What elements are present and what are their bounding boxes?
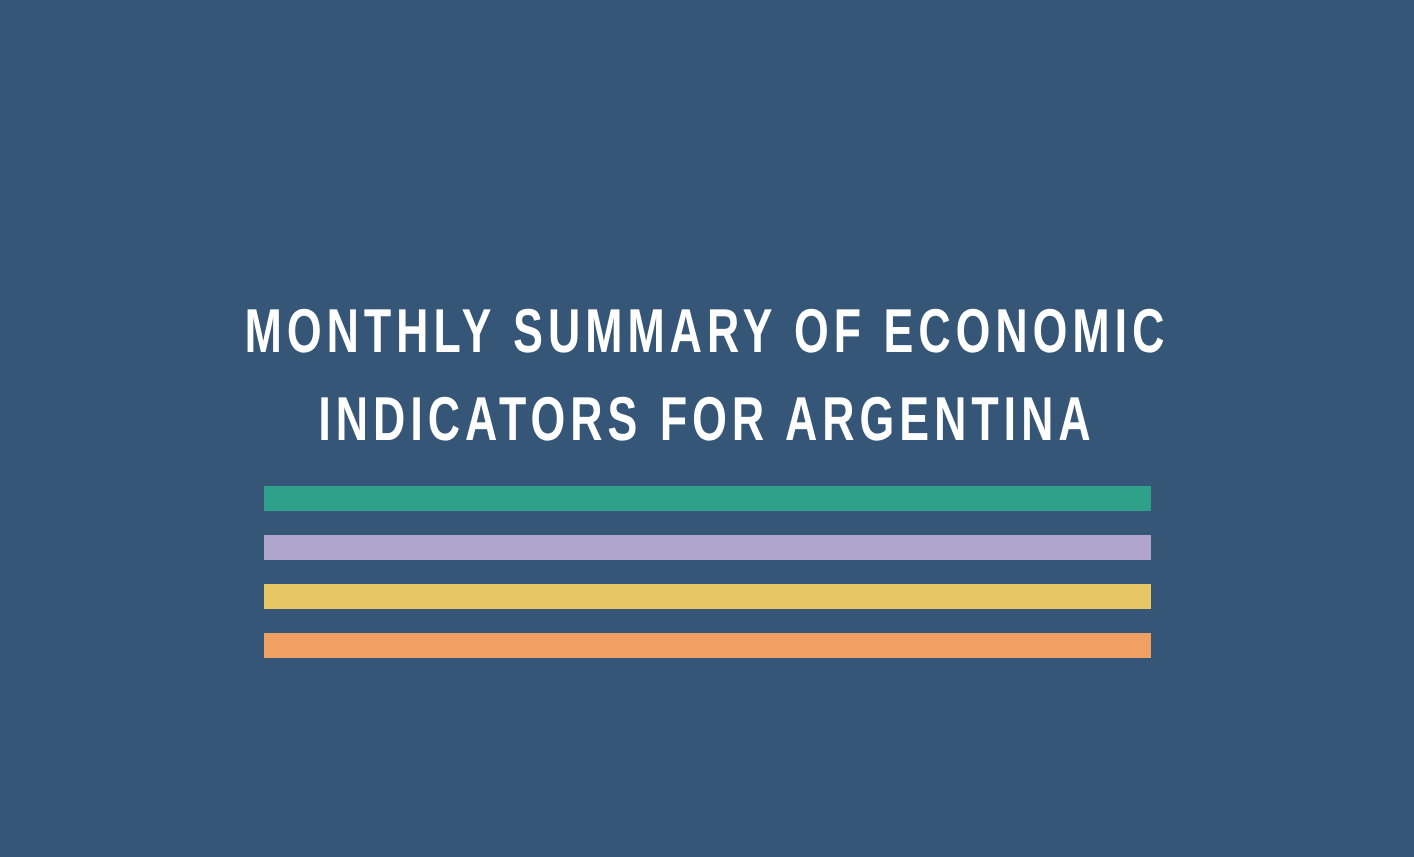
- accent-bar-lavender: [264, 535, 1151, 560]
- page-title: MONTHLY SUMMARY OF ECONOMIC INDICATORS F…: [0, 288, 1414, 464]
- accent-bar-teal: [264, 486, 1151, 511]
- page-title-line-1: MONTHLY SUMMARY OF ECONOMIC: [198, 288, 1216, 376]
- page-title-line-2: INDICATORS FOR ARGENTINA: [198, 376, 1216, 464]
- accent-bar-group: [264, 486, 1151, 658]
- accent-bar-orange: [264, 633, 1151, 658]
- accent-bar-yellow: [264, 584, 1151, 609]
- title-slide: MONTHLY SUMMARY OF ECONOMIC INDICATORS F…: [0, 0, 1414, 857]
